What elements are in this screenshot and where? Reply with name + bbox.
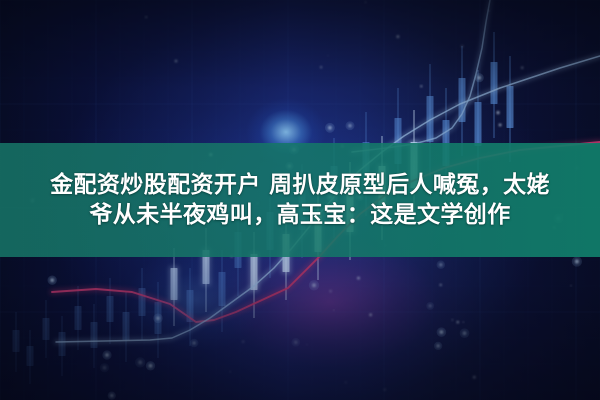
headline-banner: 金配资炒股配资开户 周扒皮原型后人喊冤，太姥 爷从未半夜鸡叫，高玉宝：这是文学创… xyxy=(0,143,600,257)
headline-line-1: 金配资炒股配资开户 周扒皮原型后人喊冤，太姥 xyxy=(50,170,550,200)
thumbnail-image: 金配资炒股配资开户 周扒皮原型后人喊冤，太姥 爷从未半夜鸡叫，高玉宝：这是文学创… xyxy=(0,0,600,400)
headline-line-2: 爷从未半夜鸡叫，高玉宝：这是文学创作 xyxy=(89,200,510,230)
